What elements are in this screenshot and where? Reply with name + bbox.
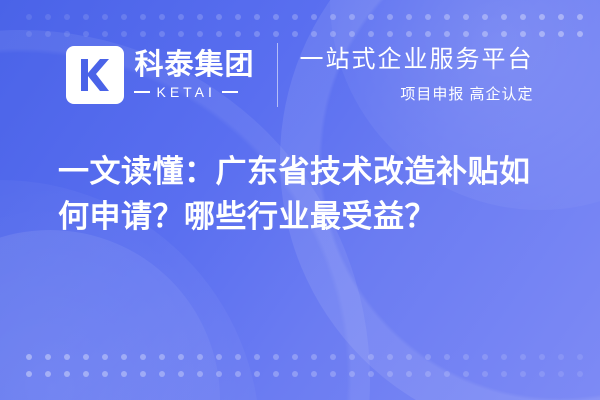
promo-banner: 科泰集团 KETAI 一站式企业服务平台 项目申报 高企认定 一文读懂：广东省技… (0, 0, 600, 400)
brand-name-en-row: KETAI (134, 84, 254, 100)
page-title: 一文读懂：广东省技术改造补贴如何申请？哪些行业最受益？ (58, 150, 558, 240)
brand-logo: 科泰集团 KETAI (66, 46, 276, 104)
kt-monogram-icon (66, 46, 124, 104)
banner-header: 科泰集团 KETAI 一站式企业服务平台 项目申报 高企认定 (0, 30, 600, 120)
slogan-sub: 项目申报 高企认定 (300, 83, 534, 104)
title-wrap: 一文读懂：广东省技术改造补贴如何申请？哪些行业最受益？ (58, 150, 558, 240)
slogan-main: 一站式企业服务平台 (300, 46, 534, 75)
brand-name-cn: 科泰集团 (134, 50, 254, 80)
brand-rule-right (222, 91, 238, 93)
brand-text: 科泰集团 KETAI (134, 50, 254, 100)
decorative-corner-arc (0, 230, 220, 400)
brand-rule-left (134, 91, 150, 93)
slogan-block: 一站式企业服务平台 项目申报 高企认定 (278, 46, 534, 104)
brand-name-en: KETAI (156, 84, 215, 100)
